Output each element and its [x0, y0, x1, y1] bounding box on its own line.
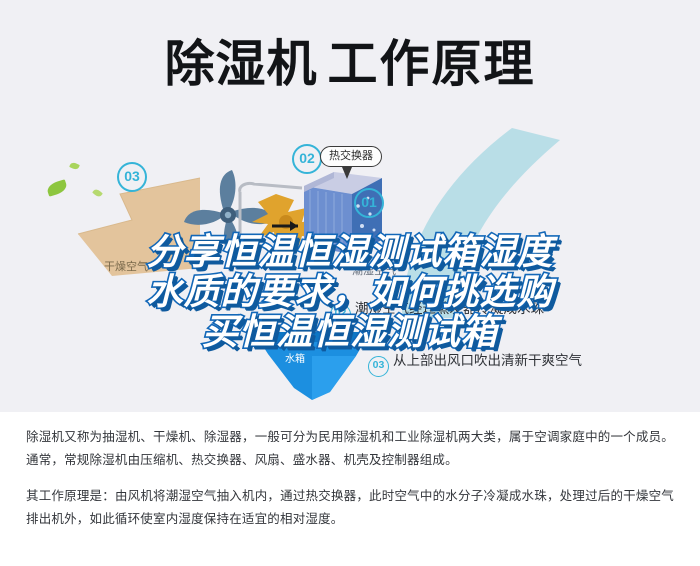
- step-line-02-number: 02: [330, 304, 351, 325]
- step-badge-02: 02: [292, 144, 322, 174]
- step-line-03: 03从上部出风口吹出清新干爽空气: [368, 352, 582, 377]
- step-line-03-text: 从上部出风口吹出清新干爽空气: [393, 353, 582, 368]
- step-line-02-text: 潮湿空气经过蒸发器冷凝成水珠: [355, 301, 544, 316]
- label-humid-air: 潮湿空气: [352, 262, 396, 278]
- step-line-03-number: 03: [368, 356, 389, 377]
- label-water-tank: 水箱: [285, 350, 305, 365]
- hero-infographic: 除湿机工作原理: [0, 0, 700, 412]
- callout-tail-icon: [342, 167, 352, 179]
- page-root: 除湿机工作原理: [0, 0, 700, 566]
- heat-exchanger-illustration: [300, 168, 388, 273]
- leaf-icon: [46, 179, 69, 197]
- heat-exchanger-icon: [300, 168, 388, 268]
- label-dry-air: 干燥空气: [104, 258, 148, 274]
- water-tank-illustration: [252, 330, 372, 407]
- heat-exchanger-callout: 热交换器: [320, 146, 382, 167]
- article-body: 除湿机又称为抽湿机、干燥机、除湿器，一般可分为民用除湿机和工业除湿机两大类，属于…: [0, 412, 700, 566]
- step-badge-03: 03: [117, 162, 147, 192]
- step-badge-01: 01: [354, 188, 384, 218]
- water-tank-icon: [252, 330, 372, 402]
- article-paragraph-1: 除湿机又称为抽湿机、干燥机、除湿器，一般可分为民用除湿机和工业除湿机两大类，属于…: [26, 426, 674, 472]
- article-paragraph-2: 其工作原理是：由风机将潮湿空气抽入机内，通过热交换器，此时空气中的水分子冷凝成水…: [26, 485, 674, 531]
- dehumidifier-diagram: 03 02 01 热交换器 干燥空气 潮湿空气 水箱 02潮湿空气经过蒸发器冷凝…: [0, 0, 700, 412]
- leaf-icon: [69, 161, 80, 170]
- step-line-02: 02潮湿空气经过蒸发器冷凝成水珠: [330, 300, 544, 325]
